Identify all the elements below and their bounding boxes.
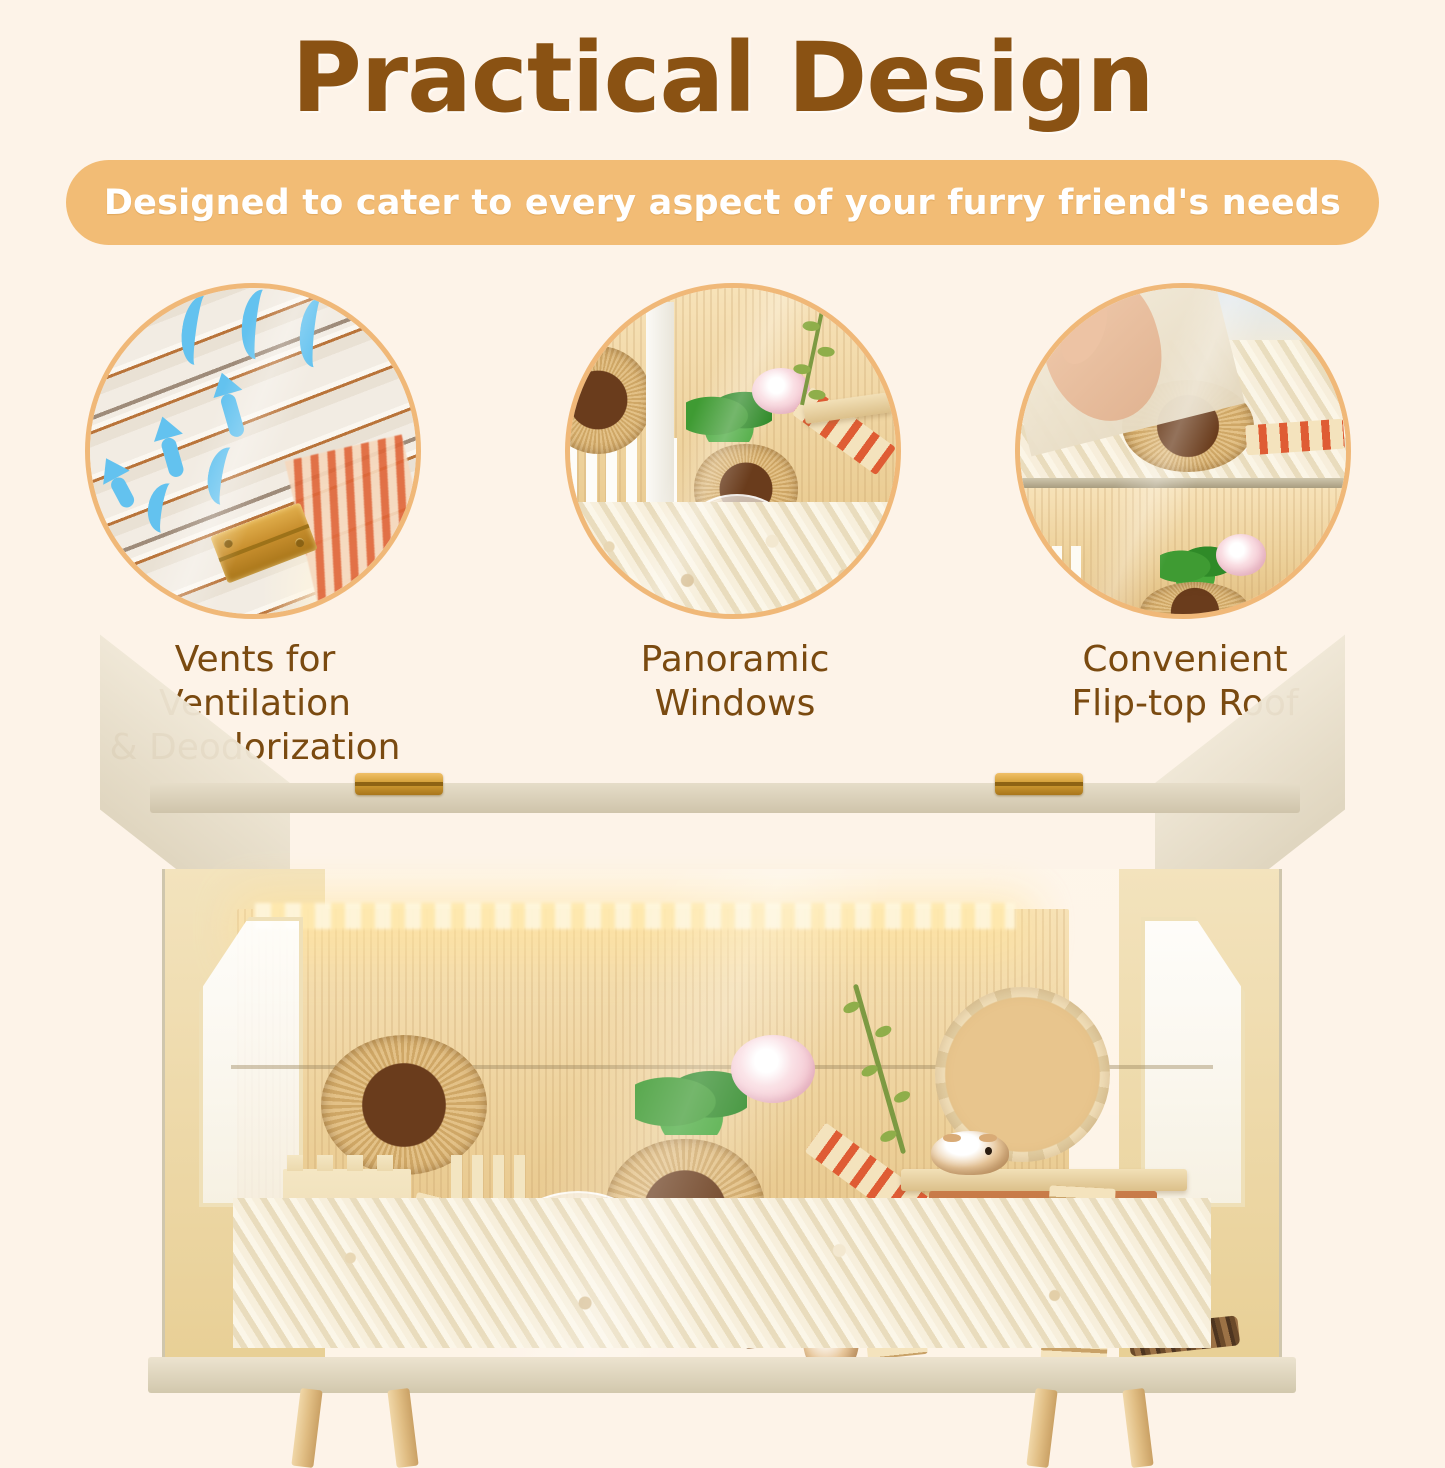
window-scene	[570, 288, 896, 614]
cage-body	[162, 869, 1282, 1369]
cage-leg	[1026, 1388, 1057, 1468]
feature-panoramic-windows: Panoramic Windows	[565, 283, 905, 619]
hamster-on-platform	[931, 1131, 1009, 1175]
base-frame	[148, 1357, 1296, 1393]
divider-rail	[1020, 478, 1346, 488]
subtitle-text: Designed to cater to every aspect of you…	[104, 183, 1341, 223]
bedding-layer	[570, 502, 896, 614]
feature-flip-top-roof: Convenient Flip-top Roof	[1015, 283, 1355, 619]
brass-hinge-left	[355, 773, 443, 795]
roof-ridge	[150, 783, 1300, 813]
white-fence	[1015, 546, 1088, 604]
bedding	[233, 1198, 1211, 1348]
cage-leg	[1122, 1388, 1153, 1468]
eucalyptus-vine	[800, 311, 824, 406]
brass-hinge-right	[995, 773, 1083, 795]
feature-ventilation: Vents for Ventilation & Deodorization	[85, 283, 425, 619]
flip-roof-scene	[1020, 288, 1346, 614]
right-platform	[901, 1169, 1187, 1191]
infographic-page: Practical Design Designed to cater to ev…	[0, 0, 1445, 1445]
woven-nest	[321, 1035, 487, 1175]
feature-image-panoramic-windows	[565, 283, 901, 619]
feature-caption-panoramic-windows: Panoramic Windows	[565, 638, 905, 726]
pink-rose	[731, 1035, 815, 1103]
hamster-cage	[100, 765, 1345, 1400]
caption-line-2: Windows	[565, 682, 905, 726]
caption-line-1: Panoramic	[565, 638, 905, 682]
cage-leg	[387, 1388, 418, 1468]
cage-leg	[291, 1388, 322, 1468]
pink-rose	[1216, 534, 1266, 576]
led-strip-light	[255, 903, 1015, 929]
page-title: Practical Design	[0, 22, 1445, 134]
subtitle-banner: Designed to cater to every aspect of you…	[66, 160, 1379, 245]
feature-image-ventilation	[85, 283, 421, 619]
product-photo	[0, 745, 1445, 1445]
feature-image-flip-top-roof	[1015, 283, 1351, 619]
vent-scene	[90, 288, 416, 614]
